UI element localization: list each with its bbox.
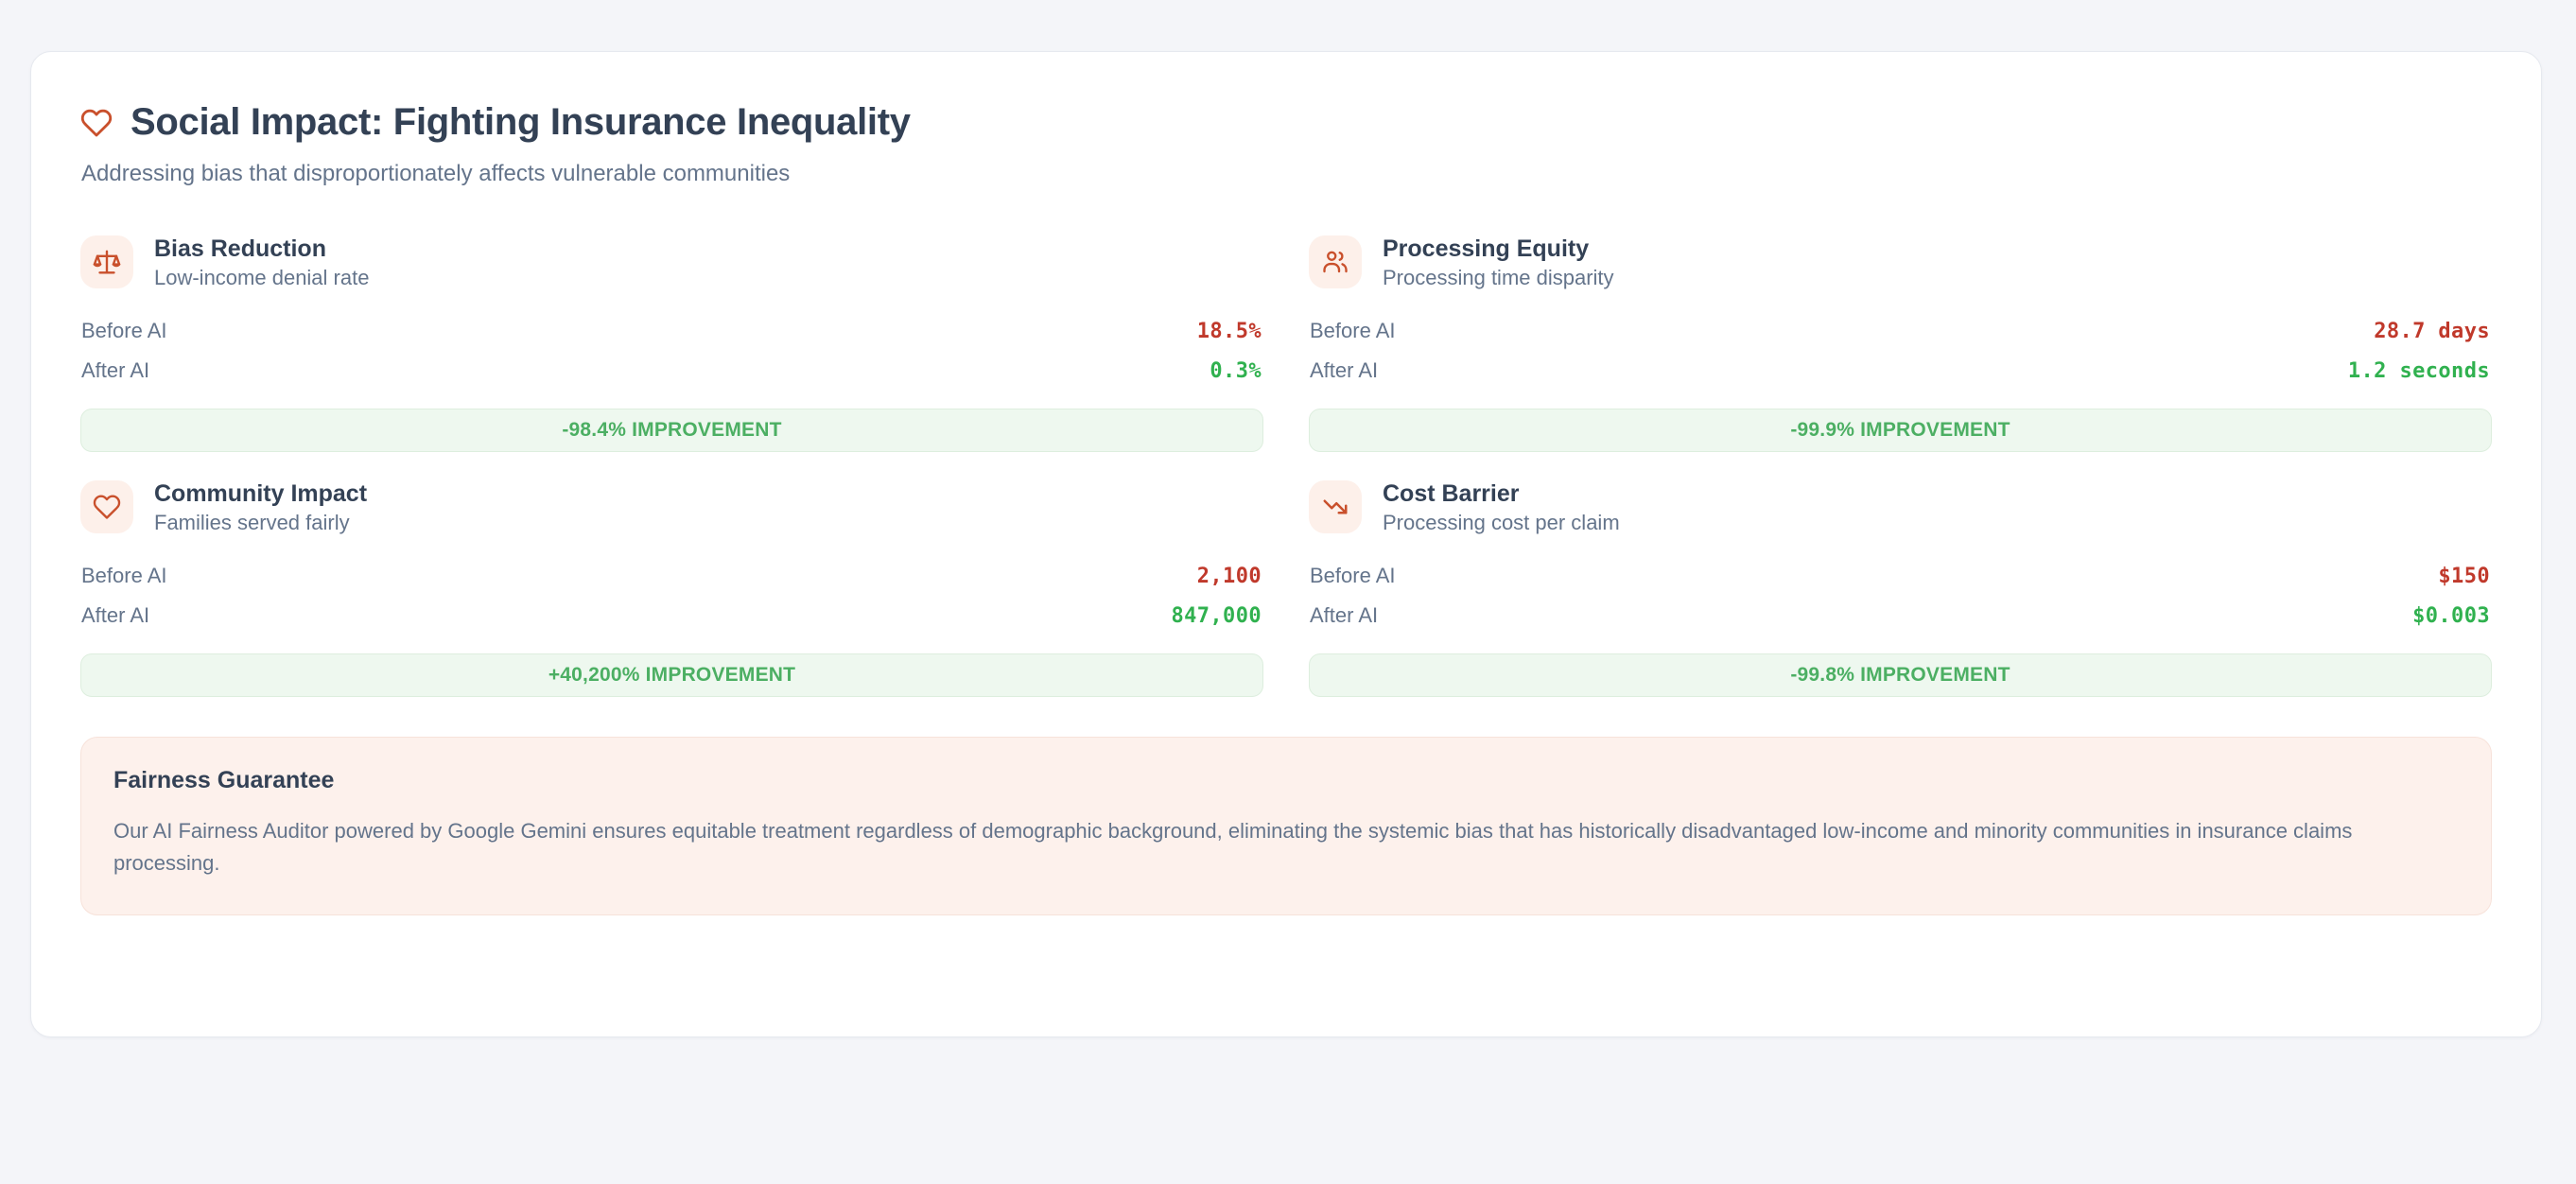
metric-head: Bias Reduction Low-income denial rate [80,235,1263,288]
metric-card-bias-reduction: Bias Reduction Low-income denial rate Be… [80,232,1263,452]
heart-icon [93,493,121,521]
improvement-badge: -99.9% IMPROVEMENT [1309,409,2492,452]
before-label: Before AI [1310,319,1396,343]
metric-titles: Processing Equity Processing time dispar… [1383,236,1614,288]
metric-card-community-impact: Community Impact Families served fairly … [80,477,1263,697]
page-title: Social Impact: Fighting Insurance Inequa… [131,101,911,143]
metric-rows: Before AI 18.5% After AI 0.3% [80,311,1263,391]
metric-icon-badge [1309,235,1362,288]
metric-icon-badge [1309,480,1362,533]
title-row: Social Impact: Fighting Insurance Inequa… [80,101,911,143]
after-value: $0.003 [2412,604,2490,628]
metric-row-after: After AI 847,000 [80,596,1263,636]
metric-titles: Bias Reduction Low-income denial rate [154,236,369,288]
metric-row-before: Before AI 18.5% [80,311,1263,351]
metric-label: Cost Barrier [1383,481,1620,506]
trending-down-icon [1321,493,1349,521]
before-label: Before AI [81,319,167,343]
metric-label: Processing Equity [1383,236,1614,261]
after-label: After AI [1310,603,1378,628]
metric-head: Community Impact Families served fairly [80,480,1263,533]
scales-icon [93,248,121,276]
social-impact-panel: Social Impact: Fighting Insurance Inequa… [30,51,2542,1037]
metric-icon-badge [80,480,133,533]
heart-icon [80,107,113,139]
metric-row-after: After AI 1.2 seconds [1309,351,2492,391]
after-label: After AI [81,603,149,628]
metric-rows: Before AI 28.7 days After AI 1.2 seconds [1309,311,2492,391]
before-value: $150 [2438,565,2490,588]
improvement-badge: +40,200% IMPROVEMENT [80,653,1263,697]
metric-sublabel: Families served fairly [154,512,367,533]
after-value: 847,000 [1171,604,1262,628]
metric-sublabel: Low-income denial rate [154,267,369,288]
before-value: 18.5% [1197,320,1262,343]
before-value: 28.7 days [2374,320,2490,343]
metric-titles: Community Impact Families served fairly [154,481,367,533]
metric-head: Cost Barrier Processing cost per claim [1309,480,2492,533]
metric-row-after: After AI $0.003 [1309,596,2492,636]
metric-card-processing-equity: Processing Equity Processing time dispar… [1309,232,2492,452]
metric-card-cost-barrier: Cost Barrier Processing cost per claim B… [1309,477,2492,697]
after-label: After AI [81,358,149,383]
metrics-grid: Bias Reduction Low-income denial rate Be… [80,232,2492,697]
metric-label: Community Impact [154,481,367,506]
metric-head: Processing Equity Processing time dispar… [1309,235,2492,288]
metric-row-after: After AI 0.3% [80,351,1263,391]
metric-rows: Before AI 2,100 After AI 847,000 [80,556,1263,636]
fairness-body: Our AI Fairness Auditor powered by Googl… [113,815,2374,881]
after-label: After AI [1310,358,1378,383]
before-label: Before AI [1310,564,1396,588]
after-value: 0.3% [1210,359,1262,383]
metric-icon-badge [80,235,133,288]
page-subtitle: Addressing bias that disproportionately … [81,159,790,188]
before-label: Before AI [81,564,167,588]
panel-header: Social Impact: Fighting Insurance Inequa… [80,101,2492,188]
improvement-badge: -98.4% IMPROVEMENT [80,409,1263,452]
metric-titles: Cost Barrier Processing cost per claim [1383,481,1620,533]
metric-sublabel: Processing cost per claim [1383,512,1620,533]
after-value: 1.2 seconds [2348,359,2490,383]
fairness-title: Fairness Guarantee [113,768,2459,794]
improvement-badge: -99.8% IMPROVEMENT [1309,653,2492,697]
metric-rows: Before AI $150 After AI $0.003 [1309,556,2492,636]
fairness-guarantee-panel: Fairness Guarantee Our AI Fairness Audit… [80,737,2492,915]
page-root: Social Impact: Fighting Insurance Inequa… [0,0,2576,1184]
before-value: 2,100 [1197,565,1262,588]
metric-row-before: Before AI $150 [1309,556,2492,596]
metric-row-before: Before AI 28.7 days [1309,311,2492,351]
metric-row-before: Before AI 2,100 [80,556,1263,596]
metric-sublabel: Processing time disparity [1383,267,1614,288]
metric-label: Bias Reduction [154,236,369,261]
users-icon [1321,248,1349,276]
